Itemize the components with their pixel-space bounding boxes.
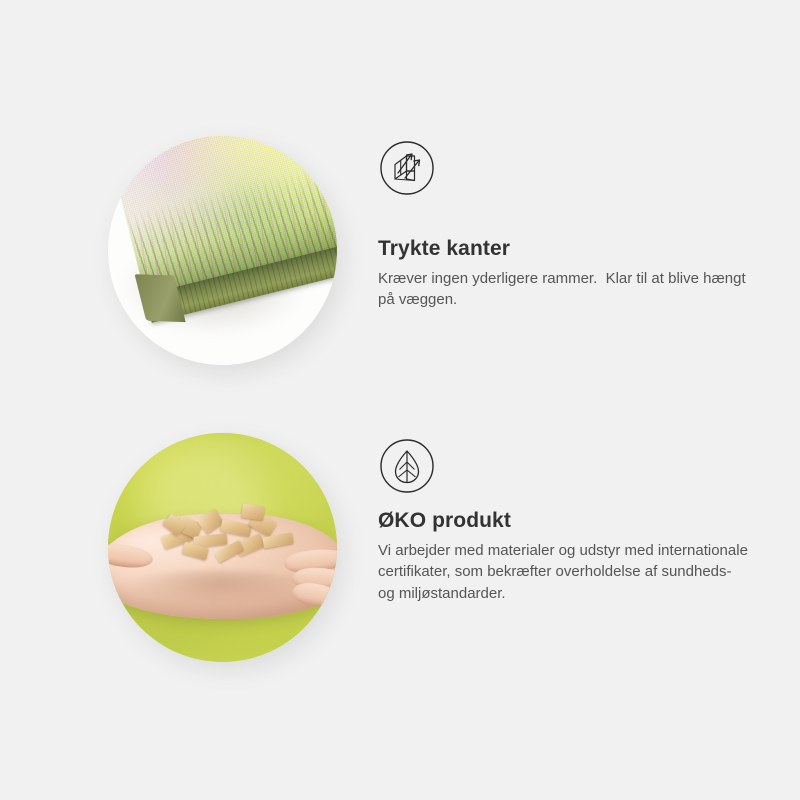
feature-description: Vi arbejder med materialer og udstyr med… [378,540,750,604]
feature-block-printed-edges: Trykte kanter Kræver ingen yderligere ra… [0,136,800,376]
canvas-print-corner-photo [108,136,337,365]
leaf-icon [379,438,435,494]
feature-title: Trykte kanter [378,236,750,261]
feature-block-eco: ØKO produkt Vi arbejder med materialer o… [0,433,800,673]
feature-text-printed-edges: Trykte kanter Kræver ingen yderligere ra… [378,236,750,311]
hands-holding-wood-chips-photo [108,433,337,662]
feature-title: ØKO produkt [378,508,750,533]
feature-description: Kræver ingen yderligere rammer. Klar til… [378,268,750,311]
canvas-wrapped-edge-icon [379,140,435,196]
product-feature-panel: Trykte kanter Kræver ingen yderligere ra… [0,0,800,800]
feature-text-eco: ØKO produkt Vi arbejder med materialer o… [378,508,750,604]
